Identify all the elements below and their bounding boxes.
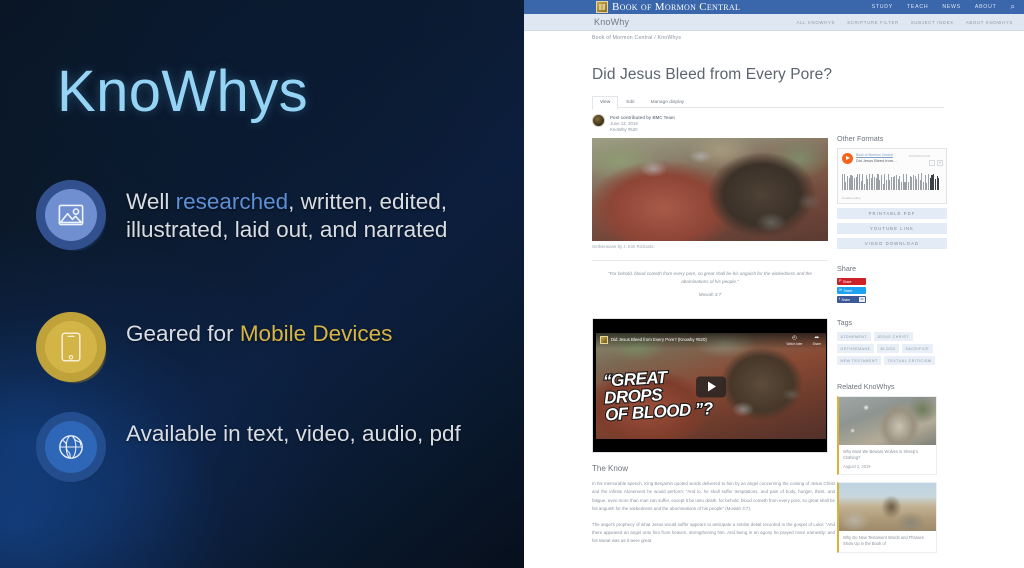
body-paragraph: In his memorable speech, King Benjamin q…	[592, 480, 835, 514]
watch-later-label: Watch later	[786, 342, 802, 346]
site-brand-wordmark: Book of Mormon Central	[612, 0, 740, 14]
pullquote-citation: Mosiah 3:7	[592, 286, 828, 297]
share-button[interactable]: ➦ Share	[812, 335, 821, 346]
feature-text-seg-0: Well	[126, 189, 176, 214]
page-sidebar: Other Formats Book of Mormon Central Did…	[837, 134, 947, 560]
related-card-body: Why Do New Testament Words and Phrases S…	[839, 531, 936, 552]
clock-icon: ◴	[792, 335, 797, 341]
teaching-crowd-thumbnail	[839, 483, 936, 531]
badge-circle-image	[36, 180, 106, 250]
feature-text-researched: Well researched, written, edited, illust…	[126, 180, 476, 243]
video-frame[interactable]: “GREAT DROPS OF BLOOD ”? Did Jesus Bleed…	[596, 322, 826, 451]
video-actions: ◴ Watch later ➦ Share	[786, 335, 821, 346]
byline-date: June 13, 2019	[610, 121, 675, 126]
badge-wrapper-globe	[36, 412, 106, 482]
twitter-icon: ✉	[839, 289, 842, 293]
section-navigation-bar: KnoWhy ALL KNOWHYS SCRIPTURE FILTER SUBJ…	[524, 14, 1024, 31]
mobile-phone-icon	[61, 332, 81, 362]
pinterest-share-button[interactable]: P Share	[837, 278, 866, 285]
tab-edit[interactable]: Edit	[618, 96, 642, 110]
feature-text-seg-1: researched	[176, 189, 289, 214]
topnav-item-study[interactable]: STUDY	[872, 4, 893, 10]
topnav-item-about[interactable]: ABOUT	[975, 4, 997, 10]
subnav-item-scripture-filter[interactable]: SCRIPTURE FILTER	[847, 20, 899, 25]
feature-item-mobile: Geared for Mobile Devices	[36, 312, 392, 382]
soundcloud-play-icon[interactable]	[842, 153, 853, 164]
avatar	[592, 114, 605, 127]
share-arrow-icon: ➦	[814, 335, 819, 341]
body-paragraph: The angel’s prophecy of what Jesus would…	[592, 521, 835, 546]
share-label: Share	[812, 342, 821, 346]
soundcloud-owner[interactable]: Book of Mormon Central	[856, 153, 897, 157]
feature-text-formats: Available in text, video, audio, pdf	[126, 412, 461, 448]
facebook-share-button[interactable]: f Share 33	[837, 296, 866, 303]
soundcloud-download-icon[interactable]: ↓	[929, 160, 935, 166]
feature-item-researched: Well researched, written, edited, illust…	[36, 180, 476, 250]
hero-figure: Gethsemane by J. Kirk Richards.	[592, 138, 828, 249]
tag-chip[interactable]: BLOOD	[877, 344, 899, 353]
soundcloud-track-title: Did Jesus Bleed from…	[856, 158, 897, 163]
pullquote-text: "For behold, blood cometh from every por…	[592, 270, 828, 286]
tag-chip[interactable]: NEW TESTAMENT	[837, 356, 881, 365]
soundcloud-share-icon[interactable]: ↱	[937, 160, 943, 166]
soundcloud-waveform[interactable]	[842, 173, 944, 190]
tag-list: ATONEMENT JESUS CHRIST GETHSEMANE BLOOD …	[837, 332, 952, 365]
topnav-item-teach[interactable]: TEACH	[907, 4, 928, 10]
gethsemane-painting-image	[592, 138, 828, 241]
site-header-bar: Book of Mormon Central STUDY TEACH NEWS …	[524, 0, 1024, 14]
feature-text-seg-0: Geared for	[126, 321, 240, 346]
pinterest-share-label: Share	[843, 280, 852, 284]
subnav-item-subject-index[interactable]: SUBJECT INDEX	[911, 20, 954, 25]
feature-text-seg-1: Mobile Devices	[240, 321, 393, 346]
badge-circle-mobile	[36, 312, 106, 382]
byline: Post contributed by BMC Team June 13, 20…	[592, 114, 675, 132]
related-card-body: Why Must We Beware Wolves in Sheep’s Clo…	[839, 445, 936, 474]
related-card-title: Why Must We Beware Wolves in Sheep’s Clo…	[843, 449, 932, 461]
page-title: Did Jesus Bleed from Every Pore?	[592, 66, 832, 84]
section-title: KnoWhy	[594, 17, 629, 27]
related-knowhy-card[interactable]: Why Must We Beware Wolves in Sheep’s Clo…	[837, 396, 937, 475]
youtube-link-button[interactable]: YOUTUBE LINK	[837, 223, 947, 234]
byline-author: Post contributed by BMC Team	[610, 115, 675, 120]
tab-manage-display[interactable]: Manage display	[643, 96, 693, 110]
primary-navigation: STUDY TEACH NEWS ABOUT ⌕	[872, 0, 1015, 14]
website-screenshot-panel: Book of Mormon Central STUDY TEACH NEWS …	[524, 0, 1024, 568]
byline-knowhy-number: KnoWhy #520	[610, 127, 675, 132]
soundcloud-brand-label: SOUNDCLOUD	[909, 154, 930, 158]
the-know-section: The Know In his memorable speech, King B…	[592, 464, 835, 546]
subnav-item-all-knowhys[interactable]: ALL KNOWHYS	[797, 20, 836, 25]
globe-icon	[58, 434, 84, 460]
waveform-bar	[938, 178, 939, 190]
facebook-share-label: Share	[842, 298, 851, 302]
facebook-share-count: 33	[859, 297, 865, 302]
soundcloud-player[interactable]: Book of Mormon Central Did Jesus Bleed f…	[837, 148, 947, 204]
slide-title: KnoWhys	[57, 58, 308, 125]
presentation-slide: KnoWhys Well researched, written, edited…	[0, 0, 1024, 568]
byline-lines: Post contributed by BMC Team June 13, 20…	[610, 114, 675, 132]
pullquote: "For behold, blood cometh from every por…	[592, 260, 828, 297]
badge-circle-globe	[36, 412, 106, 482]
other-formats-block: Other Formats Book of Mormon Central Did…	[837, 134, 947, 249]
twitter-share-label: Tweet	[844, 289, 853, 293]
video-title[interactable]: Did Jesus Bleed from Every Pore? (Knowhy…	[611, 336, 707, 342]
book-of-mormon-central-logo-icon	[596, 1, 608, 13]
channel-avatar-icon	[600, 336, 608, 344]
twitter-share-button[interactable]: ✉ Tweet	[837, 287, 866, 294]
image-icon	[58, 204, 84, 226]
share-block: Share P Share ✉ Tweet f Share 33	[837, 264, 947, 303]
youtube-video-embed[interactable]: “GREAT DROPS OF BLOOD ”? Did Jesus Bleed…	[592, 318, 828, 453]
watch-later-button[interactable]: ◴ Watch later	[786, 335, 802, 346]
tab-view[interactable]: View	[592, 96, 618, 110]
tag-chip[interactable]: ATONEMENT	[837, 332, 871, 341]
facebook-icon: f	[839, 298, 840, 302]
search-icon[interactable]: ⌕	[1011, 3, 1015, 11]
pinterest-icon: P	[839, 280, 841, 284]
feature-item-formats: Available in text, video, audio, pdf	[36, 412, 461, 482]
slide-left-panel: KnoWhys Well researched, written, edited…	[0, 0, 524, 568]
soundcloud-titles: Book of Mormon Central Did Jesus Bleed f…	[856, 153, 897, 164]
soundcloud-buttons: ↓ ↱	[929, 160, 943, 166]
share-heading: Share	[837, 264, 947, 273]
related-knowhys-heading: Related KnoWhys	[837, 382, 947, 391]
soundcloud-privacy-label: Cookie policy	[842, 196, 860, 200]
video-download-button[interactable]: VIDEO DOWNLOAD	[837, 238, 947, 249]
related-card-date: August 2, 2019	[843, 464, 932, 469]
tag-chip[interactable]: JESUS CHRIST	[874, 332, 913, 341]
badge-wrapper-mobile	[36, 312, 106, 382]
hero-caption: Gethsemane by J. Kirk Richards.	[592, 241, 828, 249]
related-card-title: Why Do New Testament Words and Phrases S…	[843, 535, 932, 547]
printable-pdf-button[interactable]: PRINTABLE PDF	[837, 208, 947, 219]
section-subnav: ALL KNOWHYS SCRIPTURE FILTER SUBJECT IND…	[797, 20, 1013, 25]
page-content: Did Jesus Bleed from Every Pore? View Ed…	[524, 46, 1024, 568]
the-know-heading: The Know	[592, 464, 835, 473]
other-formats-heading: Other Formats	[837, 134, 947, 143]
play-button-icon[interactable]	[696, 376, 726, 397]
related-knowhy-card[interactable]: Why Do New Testament Words and Phrases S…	[837, 482, 937, 553]
tags-heading: Tags	[837, 318, 947, 327]
tag-chip[interactable]: SACRIFICE	[902, 344, 933, 353]
video-title-bar: Did Jesus Bleed from Every Pore? (Knowhy…	[596, 333, 826, 349]
breadcrumb[interactable]: Book of Mormon Central / KnoWhys	[592, 35, 681, 41]
subnav-item-about-knowhys[interactable]: ABOUT KNOWHYS	[966, 20, 1013, 25]
tag-chip[interactable]: TEXTUAL CRITICISM	[884, 356, 935, 365]
tags-block: Tags ATONEMENT JESUS CHRIST GETHSEMANE B…	[837, 318, 947, 365]
tag-chip[interactable]: GETHSEMANE	[837, 344, 874, 353]
wolf-in-snow-thumbnail	[839, 397, 936, 445]
topnav-item-news[interactable]: NEWS	[942, 4, 961, 10]
feature-text-mobile: Geared for Mobile Devices	[126, 312, 392, 348]
node-tabs: View Edit Manage display	[592, 96, 944, 108]
related-knowhys-block: Related KnoWhys Why Must We Beware Wolve…	[837, 382, 947, 553]
badge-wrapper-image	[36, 180, 106, 250]
